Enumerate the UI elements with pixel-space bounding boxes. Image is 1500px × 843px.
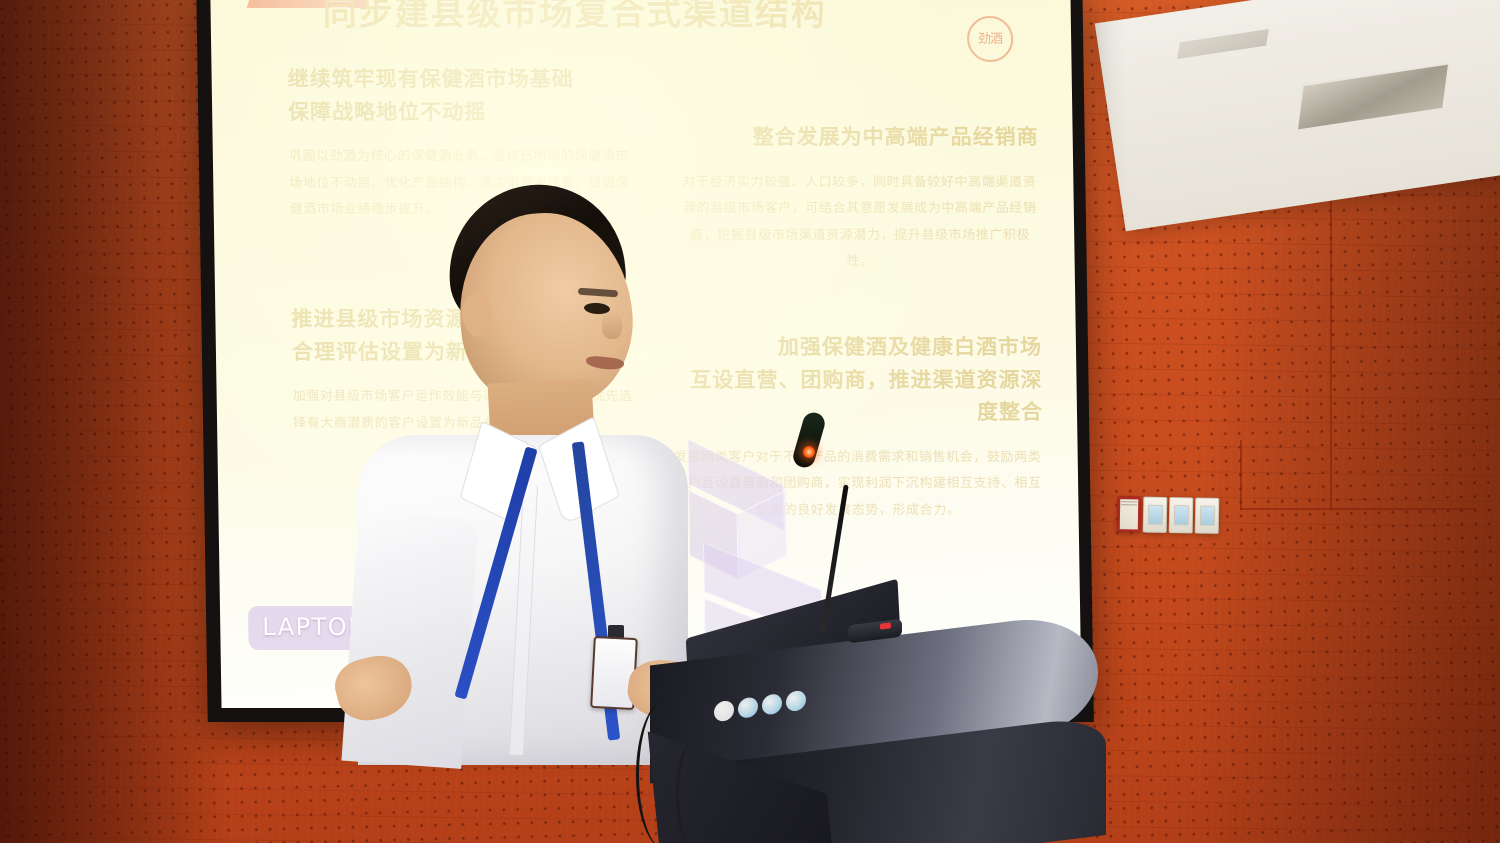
wall-shadow-left: [0, 0, 230, 843]
podium-logo-dot-1: [714, 700, 734, 723]
slide-heading: 继续筑牢现有保健酒市场基础 保障战略地位不动摇: [287, 64, 628, 129]
podium-cable-secondary: [676, 740, 716, 843]
slide-title: 同步建县级市场复合式渠道结构: [322, 0, 1023, 35]
switch-rocker-icon[interactable]: [1200, 506, 1215, 526]
presentation-photo-scene: 劲酒 同步建县级市场复合式渠道结构 继续筑牢现有保健酒市场基础 保障战略地位不动…: [0, 0, 1500, 843]
podium-logo-dot-2: [738, 696, 758, 719]
switch-rocker-icon[interactable]: [1148, 505, 1163, 525]
wall-seam-vertical: [1330, 170, 1332, 510]
slide-heading-line: 互设直营、团购商，推进渠道资源深度整合: [670, 365, 1043, 430]
speaker-figure: [340, 185, 700, 745]
switch-label-text: [1121, 501, 1137, 507]
slide-heading-line: 继续筑牢现有保健酒市场基础: [287, 64, 628, 97]
podium-logo-dot-4: [786, 690, 806, 713]
wall-switch-plate-4[interactable]: [1195, 497, 1220, 533]
slide-body: 对于经济实力较强、人口较多，同时具备较好中高端渠道资源的县级市场客户，可结合其意…: [679, 169, 1041, 276]
wall-switch-plate-1[interactable]: [1117, 496, 1142, 532]
wall-switch-plate-3[interactable]: [1169, 497, 1194, 533]
wall-seam-horizontal: [1240, 508, 1476, 510]
lectern-podium: [650, 592, 1120, 843]
speaker-nose: [602, 311, 622, 339]
wall-switch-plate-2[interactable]: [1143, 497, 1168, 533]
slide-heading-line: 保障战略地位不动摇: [288, 97, 629, 130]
slide-heading: 加强保健酒及健康白酒市场 互设直营、团购商，推进渠道资源深度整合: [670, 332, 1044, 430]
slide-heading-line: 整合发展为中高端产品经销商: [678, 122, 1039, 155]
slide-heading-line: 加强保健酒及健康白酒市场: [670, 332, 1043, 365]
slide-block-right-1: 整合发展为中高端产品经销商 对于经济实力较强、人口较多，同时具备较好中高端渠道资…: [678, 122, 1040, 275]
wall-seam-vertical-2: [1240, 440, 1242, 510]
switch-rocker-icon[interactable]: [1174, 505, 1189, 525]
speaker-arm-left: [341, 511, 478, 769]
slide-heading: 整合发展为中高端产品经销商: [678, 122, 1039, 155]
wall-switch-panel-group[interactable]: [1117, 496, 1220, 534]
podium-logo-dot-3: [762, 693, 782, 716]
